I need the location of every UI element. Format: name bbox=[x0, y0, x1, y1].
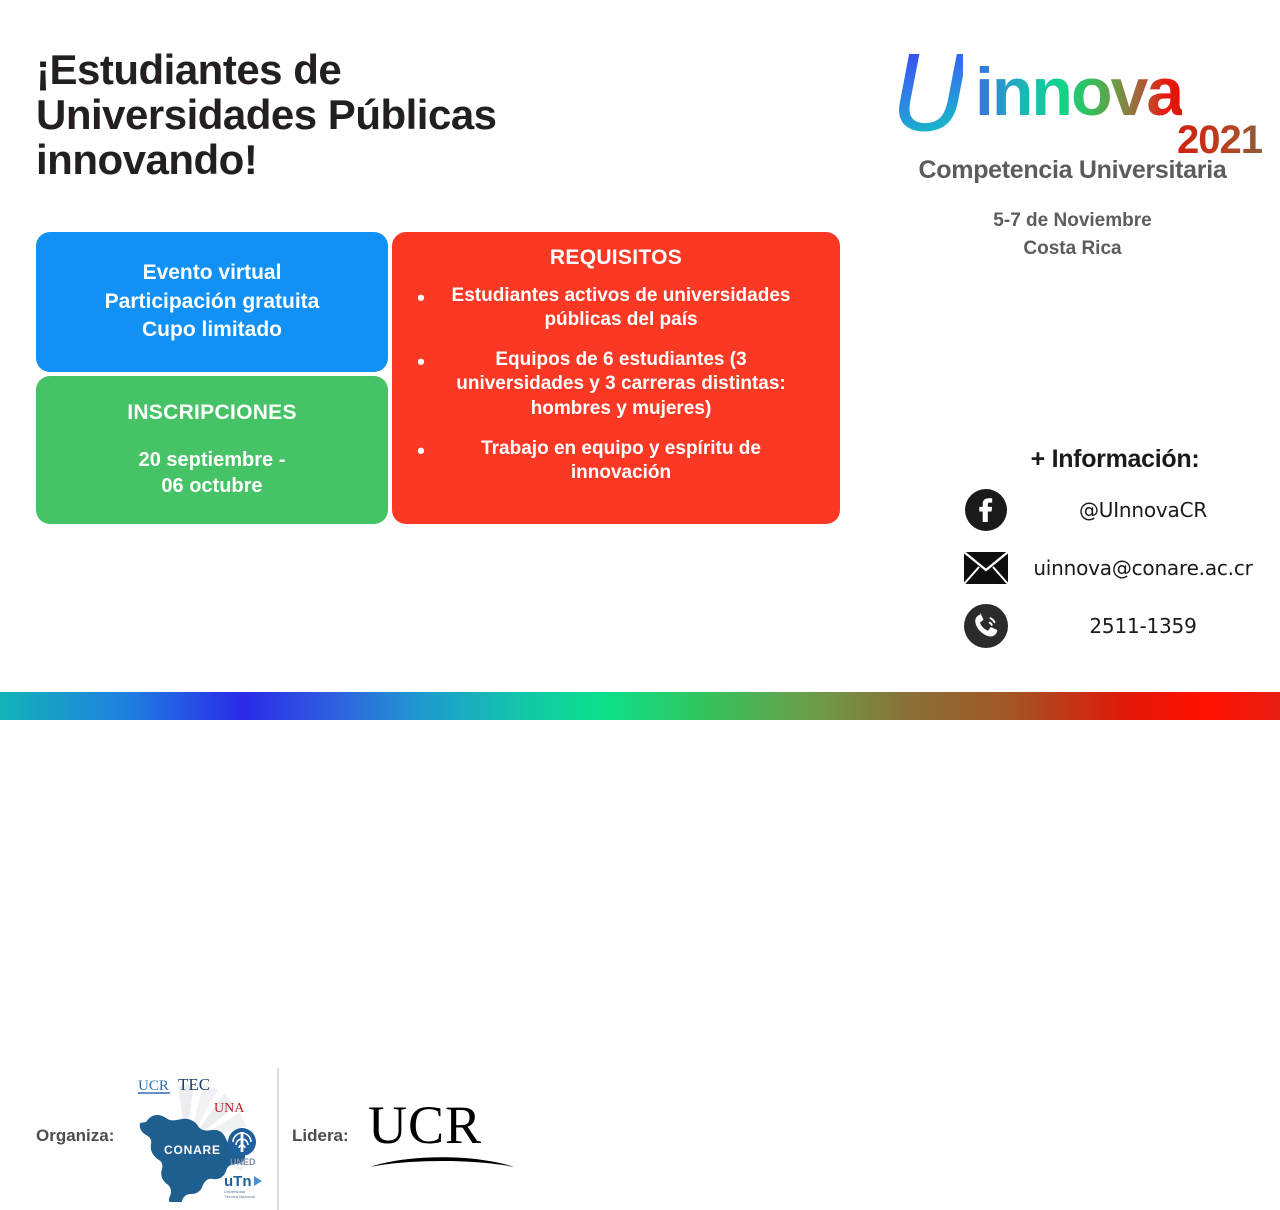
lidera-label: Lidera: bbox=[292, 1126, 349, 1146]
inscriptions-dates: 20 septiembre - 06 octubre bbox=[139, 447, 286, 499]
inscriptions-title: INSCRIPCIONES bbox=[127, 401, 297, 425]
footer-logos-area: Organiza: CONARE UCR TEC UNA bbox=[0, 528, 1280, 688]
gradient-bar bbox=[0, 692, 1280, 720]
virtual-event-box: Evento virtual Participación gratuita Cu… bbox=[36, 232, 388, 372]
uinnova-logo: U innova 2021 bbox=[875, 38, 1270, 148]
svg-text:UCR: UCR bbox=[138, 1078, 169, 1094]
facebook-icon[interactable] bbox=[960, 488, 1012, 532]
inscriptions-date-start: 20 septiembre - bbox=[139, 447, 286, 473]
inscriptions-box: INSCRIPCIONES 20 septiembre - 06 octubre bbox=[36, 376, 388, 524]
contact-row-facebook[interactable]: @UInnovaCR bbox=[960, 488, 1270, 532]
bullet-icon: • bbox=[408, 437, 434, 465]
requirement-item: • Equipos de 6 estudiantes (3 universida… bbox=[408, 348, 824, 420]
conare-logo: CONARE UCR TEC UNA UNED uTn Universidad … bbox=[124, 1070, 274, 1202]
requirement-text-3: Trabajo en equipo y espíritu de innovaci… bbox=[434, 437, 824, 485]
svg-text:UNED: UNED bbox=[230, 1157, 256, 1167]
virtual-event-text: Evento virtual Participación gratuita Cu… bbox=[105, 259, 320, 344]
requirement-item: • Estudiantes activos de universidades p… bbox=[408, 284, 824, 332]
virtual-line-2: Participación gratuita bbox=[105, 288, 320, 316]
svg-text:Técnica Nacional: Técnica Nacional bbox=[224, 1194, 255, 1199]
bullet-icon: • bbox=[408, 284, 434, 312]
svg-text:CONARE: CONARE bbox=[164, 1143, 221, 1157]
organiza-label: Organiza: bbox=[36, 1126, 114, 1146]
logo-year: 2021 bbox=[1177, 120, 1262, 160]
event-dates: 5-7 de Noviembre Costa Rica bbox=[875, 207, 1270, 262]
headline-line-2: Universidades Públicas bbox=[36, 93, 656, 138]
headline-line-1: ¡Estudiantes de bbox=[36, 48, 656, 93]
ucr-logo-text: UCR bbox=[368, 1098, 516, 1152]
ucr-logo-arc bbox=[368, 1152, 516, 1170]
requirements-title: REQUISITOS bbox=[408, 246, 824, 270]
logo-letter-u: U bbox=[893, 42, 963, 146]
footer-divider bbox=[277, 1068, 279, 1210]
requirement-text-2: Equipos de 6 estudiantes (3 universidade… bbox=[434, 348, 824, 420]
headline-line-3: innovando! bbox=[36, 138, 656, 183]
requirements-box: REQUISITOS • Estudiantes activos de univ… bbox=[392, 232, 840, 524]
event-logo-block: U innova 2021 Competencia Universitaria … bbox=[875, 38, 1270, 262]
requirement-text-1: Estudiantes activos de universidades púb… bbox=[434, 284, 824, 332]
svg-text:UNA: UNA bbox=[214, 1101, 245, 1116]
event-location-line: Costa Rica bbox=[875, 235, 1270, 263]
page-title: ¡Estudiantes de Universidades Públicas i… bbox=[36, 48, 656, 183]
bullet-icon: • bbox=[408, 348, 434, 376]
event-date-line: 5-7 de Noviembre bbox=[875, 207, 1270, 235]
svg-text:uTn: uTn bbox=[224, 1173, 252, 1190]
svg-text:TEC: TEC bbox=[178, 1075, 210, 1094]
logo-wordmark-text: innova bbox=[975, 58, 1182, 126]
inscriptions-date-end: 06 octubre bbox=[139, 473, 286, 499]
virtual-line-3: Cupo limitado bbox=[105, 316, 320, 344]
more-info-title: + Información: bbox=[960, 445, 1270, 474]
virtual-line-1: Evento virtual bbox=[105, 259, 320, 287]
facebook-handle[interactable]: @UInnovaCR bbox=[1012, 498, 1270, 522]
ucr-logo: UCR bbox=[368, 1098, 516, 1170]
requirement-item: • Trabajo en equipo y espíritu de innova… bbox=[408, 437, 824, 485]
